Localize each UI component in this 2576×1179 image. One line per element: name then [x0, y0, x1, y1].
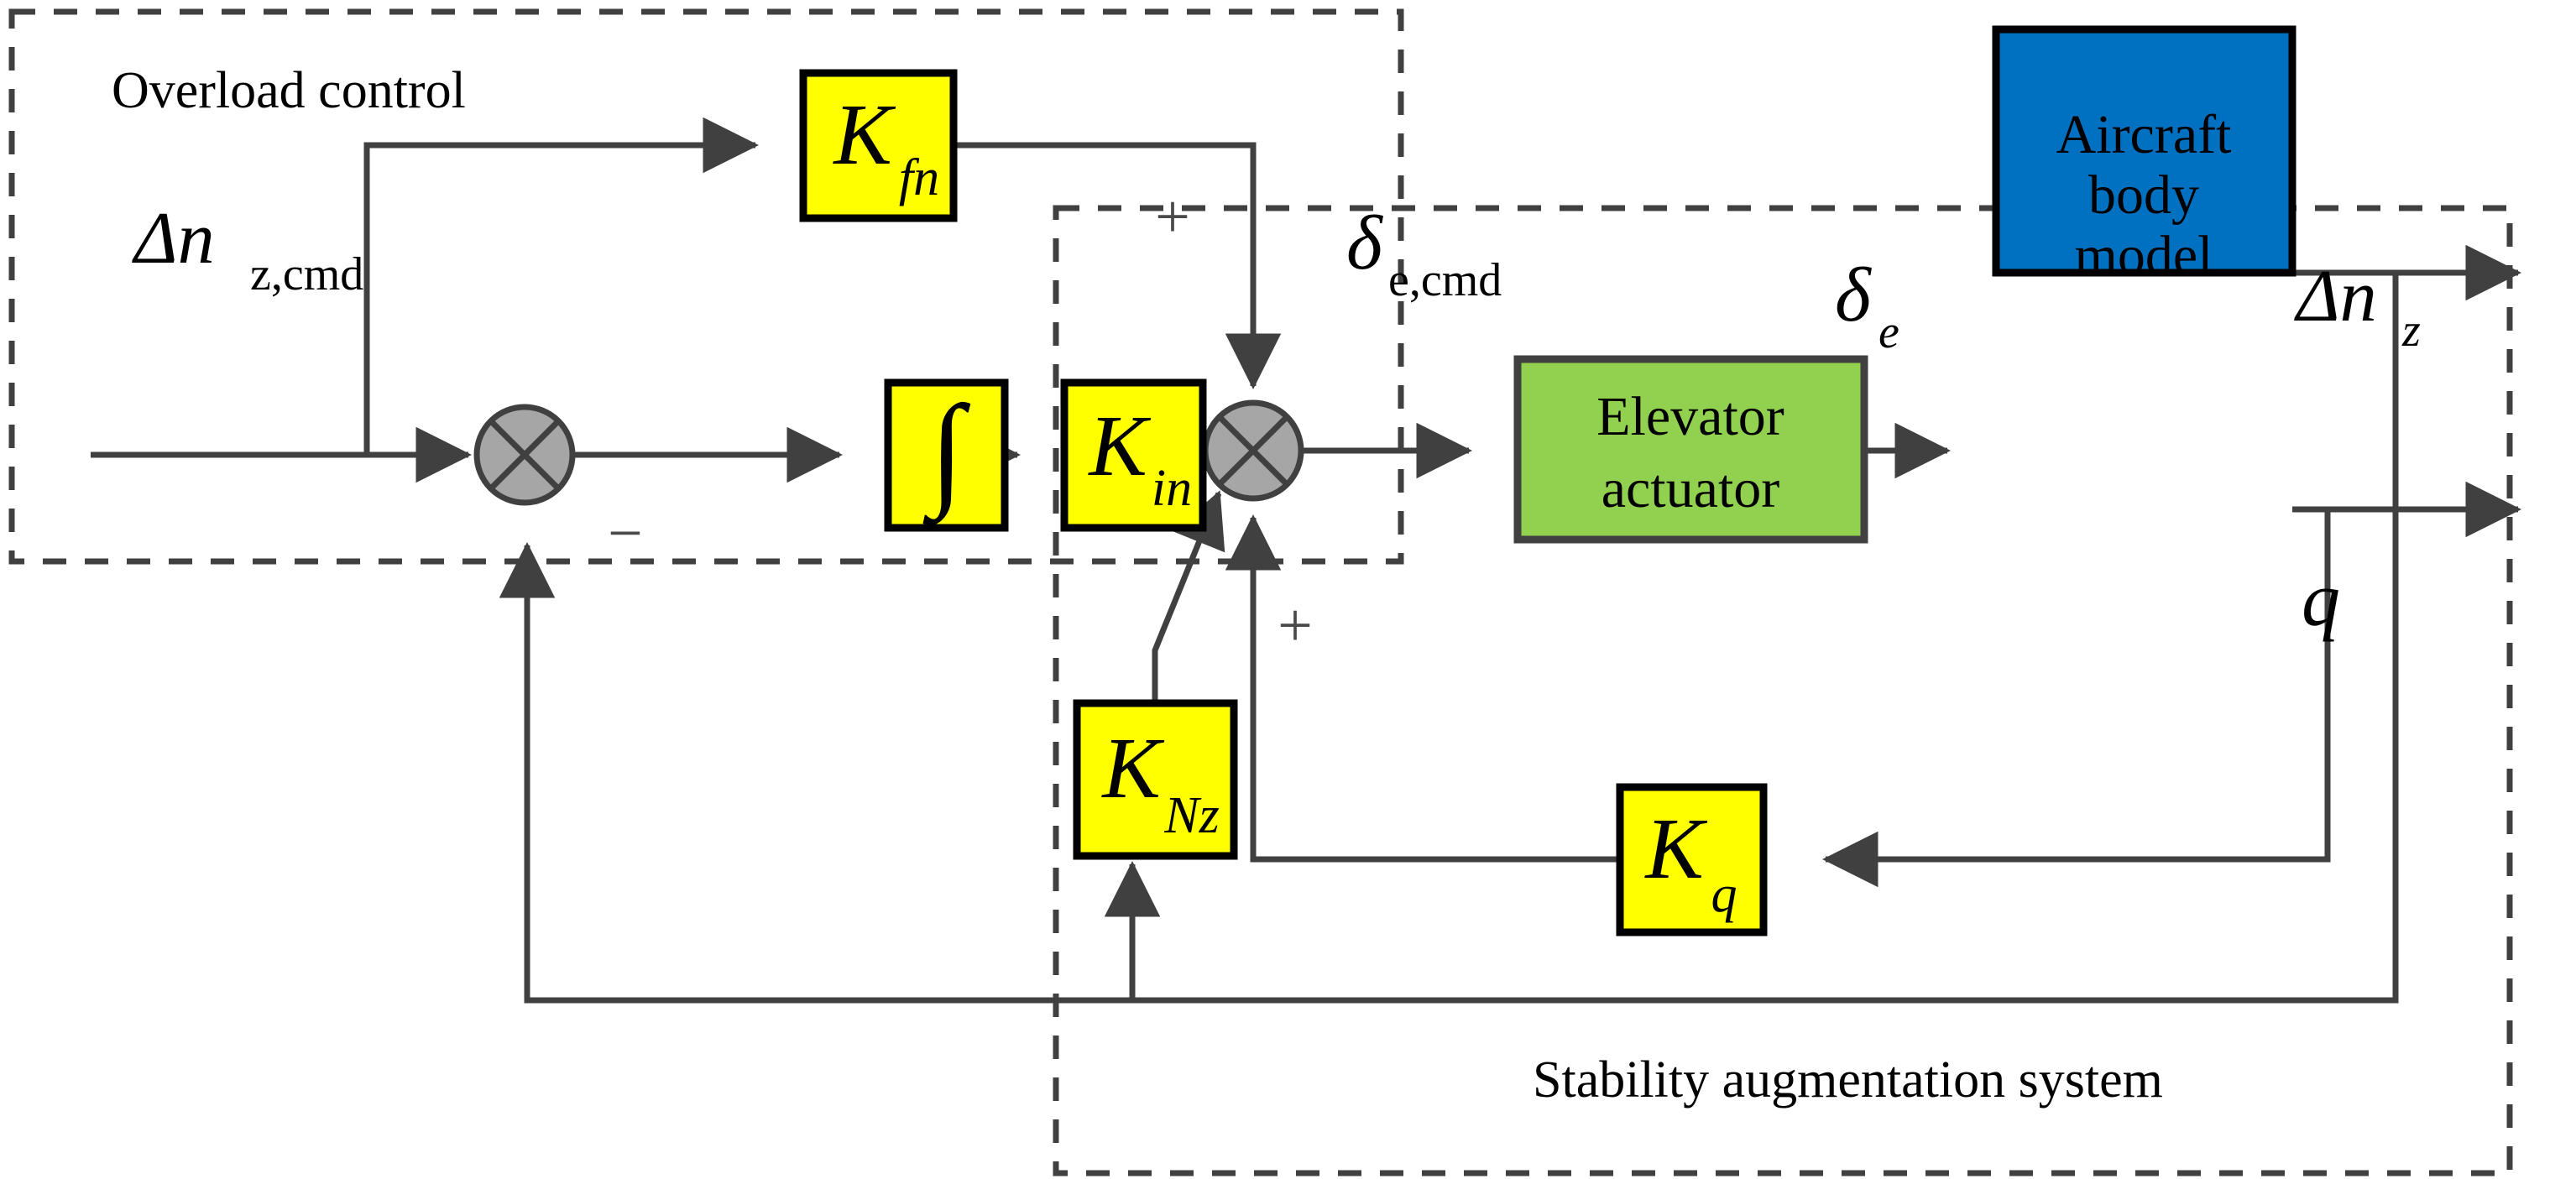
group-label-overload-control: Overload control: [112, 62, 466, 119]
diagram-canvas: Overload control Stability augmentation …: [0, 0, 2576, 1179]
block-aircraft-body-model-label-line2: body: [2088, 164, 2199, 226]
signal-input-command-base: Δn: [132, 198, 215, 279]
signal-label-output-pitch-rate: q: [2302, 556, 2340, 642]
signal-output-nz-subscript: z: [2401, 305, 2421, 357]
block-k-q-subscript: q: [1711, 866, 1737, 923]
signal-elevator-command-base: δ: [1346, 200, 1383, 285]
block-integrator[interactable]: ∫: [888, 380, 1005, 528]
block-k-nz[interactable]: K Nz: [1077, 703, 1234, 856]
signal-input-command-subscript: z,cmd: [250, 248, 363, 300]
block-k-q[interactable]: K q: [1620, 787, 1763, 932]
block-k-fn-subscript: fn: [899, 149, 939, 206]
signal-elevator-command-subscript: e,cmd: [1388, 254, 1502, 306]
signal-elevator-deflection-base: δ: [1835, 252, 1872, 337]
control-block-diagram: Overload control Stability augmentation …: [0, 0, 2576, 1179]
block-elevator-actuator-label-line1: Elevator: [1596, 386, 1784, 447]
block-k-in[interactable]: K in: [1064, 383, 1203, 528]
sign-command-positive-left: +: [1155, 183, 1190, 252]
block-aircraft-body-model-label-line3: model: [2075, 225, 2213, 286]
integral-icon: ∫: [922, 380, 970, 526]
sign-command-positive-bottom: +: [1278, 592, 1313, 660]
signal-output-q-base: q: [2302, 556, 2340, 642]
signal-output-nz-base: Δn: [2294, 256, 2377, 337]
block-k-fn[interactable]: K fn: [803, 73, 954, 218]
signal-elevator-deflection-subscript: e: [1878, 306, 1899, 358]
sign-error-negative: −: [608, 499, 643, 568]
block-elevator-actuator[interactable]: Elevator actuator: [1518, 359, 1864, 540]
block-k-nz-subscript: Nz: [1163, 787, 1219, 844]
block-k-in-subscript: in: [1152, 460, 1192, 517]
block-aircraft-body-model[interactable]: Aircraft body model: [1996, 29, 2292, 286]
sum-junction-error: [477, 407, 572, 503]
block-aircraft-body-model-label-line1: Aircraft: [2056, 104, 2232, 165]
sum-junction-command: [1205, 403, 1301, 498]
block-k-nz-symbol: K: [1100, 720, 1164, 816]
group-label-stability-augmentation-system: Stability augmentation system: [1533, 1051, 2163, 1109]
block-k-q-symbol: K: [1643, 801, 1707, 897]
block-k-in-symbol: K: [1087, 398, 1151, 494]
block-elevator-actuator-label-line2: actuator: [1602, 458, 1780, 519]
block-k-fn-symbol: K: [832, 86, 896, 183]
